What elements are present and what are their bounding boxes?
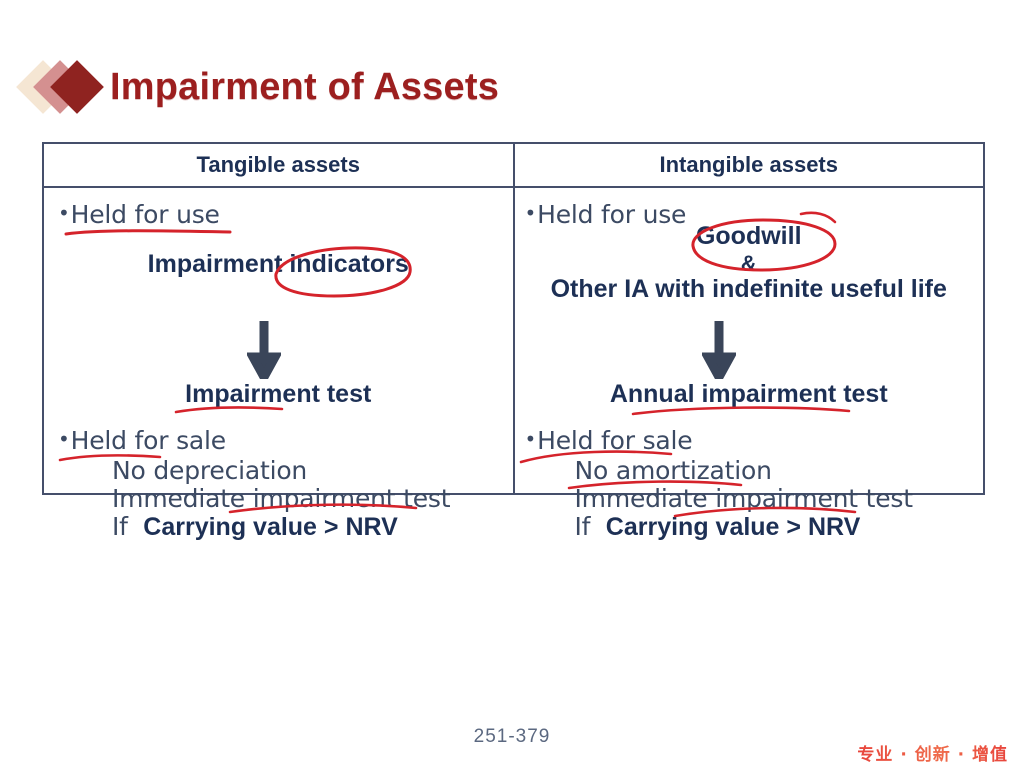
page-title: Impairment of Assets	[110, 68, 499, 106]
bullet-dot-icon: •	[525, 427, 537, 451]
intangible-sale-line-1: No amortization	[575, 456, 772, 485]
slide-canvas: Impairment of Assets Tangible assets Int…	[0, 0, 1024, 768]
tangible-impairment-indicators: Impairment indicators	[44, 250, 513, 279]
underline-held-for-use-left	[66, 231, 230, 234]
tangible-sale-line-2: Immediate impairment test	[112, 484, 450, 513]
bullet-dot-icon: •	[58, 201, 70, 225]
tangible-sale-line-1: No depreciation	[112, 456, 307, 485]
down-arrow-icon-tangible	[247, 321, 281, 379]
intangible-goodwill: Goodwill	[515, 222, 984, 251]
intangible-held-for-sale: •Held for sale	[525, 426, 693, 455]
intangible-sale-line-2: Immediate impairment test	[575, 484, 913, 513]
table-cell-tangible: •Held for use Impairment indicators Impa…	[44, 188, 515, 495]
comparison-table: Tangible assets Intangible assets •Held …	[42, 142, 985, 495]
intangible-conjunction: &	[515, 251, 984, 277]
slide-title-row: Impairment of Assets	[24, 56, 499, 118]
brand-slogan: 专业 · 创新 · 增值	[857, 740, 1008, 765]
table-cell-intangible: •Held for use Goodwill & Other IA with i…	[515, 188, 984, 495]
table-header-row: Tangible assets Intangible assets	[44, 144, 983, 188]
column-header-tangible: Tangible assets	[44, 144, 515, 186]
column-header-intangible: Intangible assets	[515, 144, 984, 186]
intangible-other-ia: Other IA with indefinite useful life	[515, 275, 984, 304]
intangible-condition: If Carrying value > NRV	[575, 512, 861, 542]
tangible-held-for-use: •Held for use	[58, 200, 220, 229]
tangible-held-for-sale: •Held for sale	[58, 426, 226, 455]
bullet-dot-icon: •	[58, 427, 70, 451]
circle-goodwill-tail	[801, 213, 835, 222]
tangible-impairment-test: Impairment test	[44, 380, 513, 409]
table-body-row: •Held for use Impairment indicators Impa…	[44, 188, 983, 495]
diamond-logo-icon	[24, 57, 104, 117]
tangible-condition: If Carrying value > NRV	[112, 512, 398, 542]
intangible-annual-impairment-test: Annual impairment test	[515, 380, 984, 409]
down-arrow-icon-intangible	[702, 321, 736, 379]
